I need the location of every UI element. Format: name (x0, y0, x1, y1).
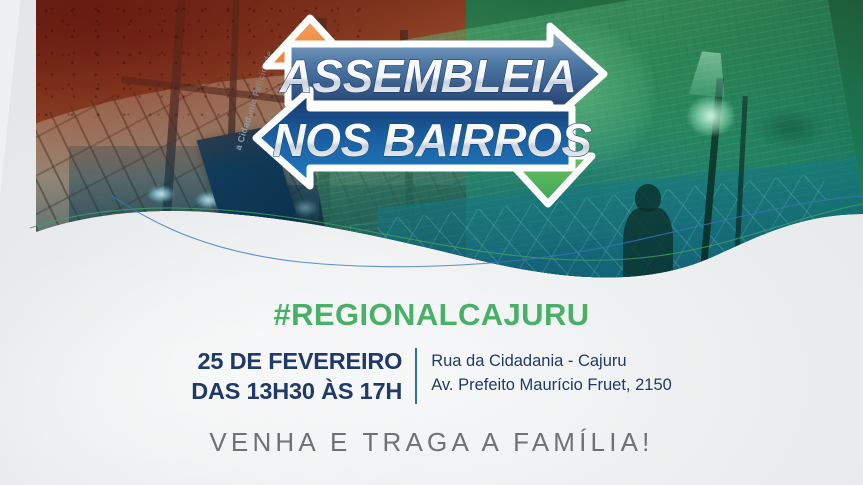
address-block: Rua da Cidadania - Cajuru Av. Prefeito M… (417, 346, 672, 406)
photo-ceiling-light (148, 186, 174, 202)
address-line-2: Av. Prefeito Maurício Fruet, 2150 (431, 373, 672, 397)
photo-lamp-glow (687, 96, 735, 136)
date-line-1: 25 DE FEVEREIRO (191, 346, 402, 376)
event-poster: a Cidadania Felicidade (0, 0, 863, 485)
address-line-1: Rua da Cidadania - Cajuru (431, 349, 672, 373)
logo-line-assembleia: ASSEMBLEIA (279, 50, 577, 102)
hashtag: #REGIONALCAJURU (0, 296, 863, 334)
date-address-row: 25 DE FEVEREIRO DAS 13H30 ÀS 17H Rua da … (0, 346, 863, 406)
logo-line-nos-bairros: NOS BAIRROS (272, 114, 592, 166)
tagline: VENHA E TRAGA A FAMÍLIA! (0, 426, 863, 458)
date-line-2: DAS 13H30 ÀS 17H (191, 376, 402, 406)
photo-shrub (753, 108, 827, 148)
event-details: #REGIONALCAJURU 25 DE FEVEREIRO DAS 13H3… (0, 296, 863, 458)
date-block: 25 DE FEVEREIRO DAS 13H30 ÀS 17H (191, 346, 415, 406)
assembleia-nos-bairros-logo: ASSEMBLEIA NOS BAIRROS (232, 4, 632, 226)
